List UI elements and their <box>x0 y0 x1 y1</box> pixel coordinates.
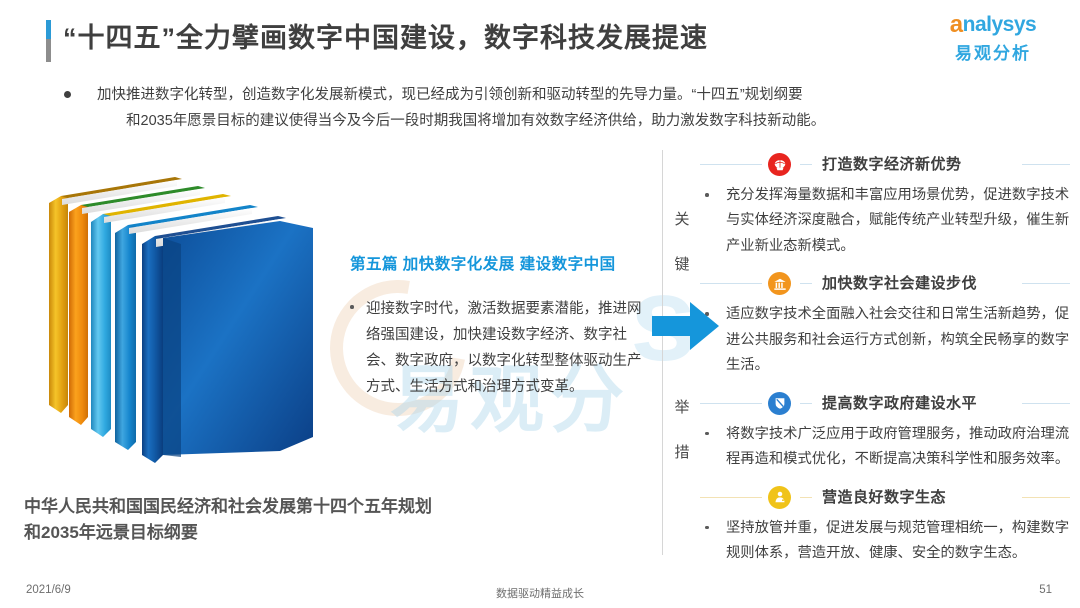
person-ecosystem-glyph <box>773 490 787 504</box>
section-body-text: 将数字技术广泛应用于政府管理服务，推动政府治理流程再造和模式优化，不断提高决策科… <box>726 422 1070 473</box>
section-header: 打造数字经济新优势 <box>700 150 1070 178</box>
intro-bullet-dot-icon <box>64 91 71 98</box>
key-measures-char-4: 措 <box>670 445 694 460</box>
section-title: 提高数字政府建设水平 <box>822 392 977 413</box>
section-body-text: 充分发挥海量数据和丰富应用场景优势，促进数字技术与实体经济深度融合，赋能传统产业… <box>726 183 1070 259</box>
section-body: 适应数字技术全面融入社会交往和日常生活新趋势，促进公共服务和社会运行方式创新，构… <box>700 302 1070 388</box>
books-illustration <box>35 165 335 490</box>
title-accent-bar <box>46 20 51 62</box>
logo-wordmark-text: nalysys <box>963 13 1037 36</box>
key-measures-char-1: 关 <box>670 212 694 227</box>
section-rule-right <box>1022 403 1070 404</box>
section-rule-mid <box>800 283 812 284</box>
section-body-text: 坚持放管并重，促进发展与规范管理相统一，构建数字规则体系，营造开放、健康、安全的… <box>726 516 1070 567</box>
footer-page-number: 51 <box>1039 584 1052 596</box>
person-ecosystem-icon <box>768 486 791 509</box>
intro-line-2: 和2035年愿景目标的建议使得当今及今后一段时期我国将增加有效数字经济供给，助力… <box>97 108 1024 134</box>
section-rule-right <box>1022 283 1070 284</box>
slide-header: “十四五”全力擘画数字中国建设，数字科技发展提速 analysys 易观分析 <box>0 0 1080 78</box>
section-rule-right <box>1022 164 1070 165</box>
section-header: 营造良好数字生态 <box>700 483 1070 511</box>
section-digital-economy: 打造数字经济新优势 充分发挥海量数据和丰富应用场景优势，促进数字技术与实体经济深… <box>700 150 1070 269</box>
section-header: 提高数字政府建设水平 <box>700 389 1070 417</box>
middle-section-title: 第五篇 加快数字化发展 建设数字中国 <box>350 252 650 274</box>
institution-glyph <box>773 277 787 291</box>
digital-economy-icon <box>768 153 791 176</box>
middle-body-text: 迎接数字时代，激活数据要素潜能，推进网络强国建设，加快建设数字经济、数字社会、数… <box>366 296 650 400</box>
section-body: 将数字技术广泛应用于政府管理服务，推动政府治理流程再造和模式优化，不断提高决策科… <box>700 422 1070 483</box>
footer-tagline: 数据驱动精益成长 <box>0 585 1080 601</box>
section-bullet-dot-icon <box>705 526 709 530</box>
section-body-text: 适应数字技术全面融入社会交往和日常生活新趋势，促进公共服务和社会运行方式创新，构… <box>726 302 1070 378</box>
section-bullet-dot-icon <box>705 193 709 197</box>
section-rule-left <box>700 283 762 284</box>
analysys-logo: analysys 易观分析 <box>928 12 1058 64</box>
section-digital-society: 加快数字社会建设步伐 适应数字技术全面融入社会交往和日常生活新趋势，促进公共服务… <box>700 269 1070 388</box>
section-bullet-dot-icon <box>705 432 709 436</box>
logo-cn-name: 易观分析 <box>928 39 1058 64</box>
middle-panel: 第五篇 加快数字化发展 建设数字中国 迎接数字时代，激活数据要素潜能，推进网络强… <box>350 252 650 400</box>
key-measures-list: 打造数字经济新优势 充分发挥海量数据和丰富应用场景优势，促进数字技术与实体经济深… <box>700 150 1070 576</box>
section-rule-mid <box>800 164 812 165</box>
section-rule-left <box>700 164 762 165</box>
section-rule-left <box>700 403 762 404</box>
section-title: 加快数字社会建设步伐 <box>822 272 977 293</box>
section-body: 坚持放管并重，促进发展与规范管理相统一，构建数字规则体系，营造开放、健康、安全的… <box>700 516 1070 577</box>
key-measures-char-3: 举 <box>670 400 694 415</box>
section-rule-left <box>700 497 762 498</box>
digital-economy-glyph <box>773 158 787 172</box>
vertical-divider <box>662 150 663 555</box>
middle-bullet-dot-icon <box>350 305 354 309</box>
key-measures-char-2: 键 <box>670 257 694 272</box>
section-body: 充分发挥海量数据和丰富应用场景优势，促进数字技术与实体经济深度融合，赋能传统产业… <box>700 183 1070 269</box>
intro-bullet: 加快推进数字化转型，创造数字化发展新模式，现已经成为引领创新和驱动转型的先导力量… <box>64 82 1024 135</box>
section-title: 打造数字经济新优势 <box>822 153 962 174</box>
flow-arrow-svg <box>652 300 720 352</box>
institution-icon <box>768 272 791 295</box>
book-caption: 中华人民共和国国民经济和社会发展第十四个五年规划和2035年远景目标纲要 <box>24 494 444 547</box>
logo-a-mark-icon: a <box>950 11 963 38</box>
page-title: “十四五”全力擘画数字中国建设，数字科技发展提速 <box>63 16 708 55</box>
section-digital-government: 提高数字政府建设水平 将数字技术广泛应用于政府管理服务，推动政府治理流程再造和模… <box>700 389 1070 483</box>
intro-text: 加快推进数字化转型，创造数字化发展新模式，现已经成为引领创新和驱动转型的先导力量… <box>97 82 1024 135</box>
middle-body: 迎接数字时代，激活数据要素潜能，推进网络强国建设，加快建设数字经济、数字社会、数… <box>350 296 650 400</box>
shield-icon <box>768 392 791 415</box>
section-rule-right <box>1022 497 1070 498</box>
flow-arrow-icon <box>652 300 720 352</box>
section-header: 加快数字社会建设步伐 <box>700 269 1070 297</box>
shield-glyph <box>773 396 787 410</box>
section-digital-ecosystem: 营造良好数字生态 坚持放管并重，促进发展与规范管理相统一，构建数字规则体系，营造… <box>700 483 1070 577</box>
intro-line-1: 加快推进数字化转型，创造数字化发展新模式，现已经成为引领创新和驱动转型的先导力量… <box>97 82 1024 108</box>
section-rule-mid <box>800 403 812 404</box>
section-title: 营造良好数字生态 <box>822 486 946 507</box>
slide-footer: 2021/6/9 数据驱动精益成长 51 <box>0 576 1080 608</box>
logo-wordmark: analysys <box>928 12 1058 36</box>
section-rule-mid <box>800 497 812 498</box>
books-svg <box>35 165 335 490</box>
